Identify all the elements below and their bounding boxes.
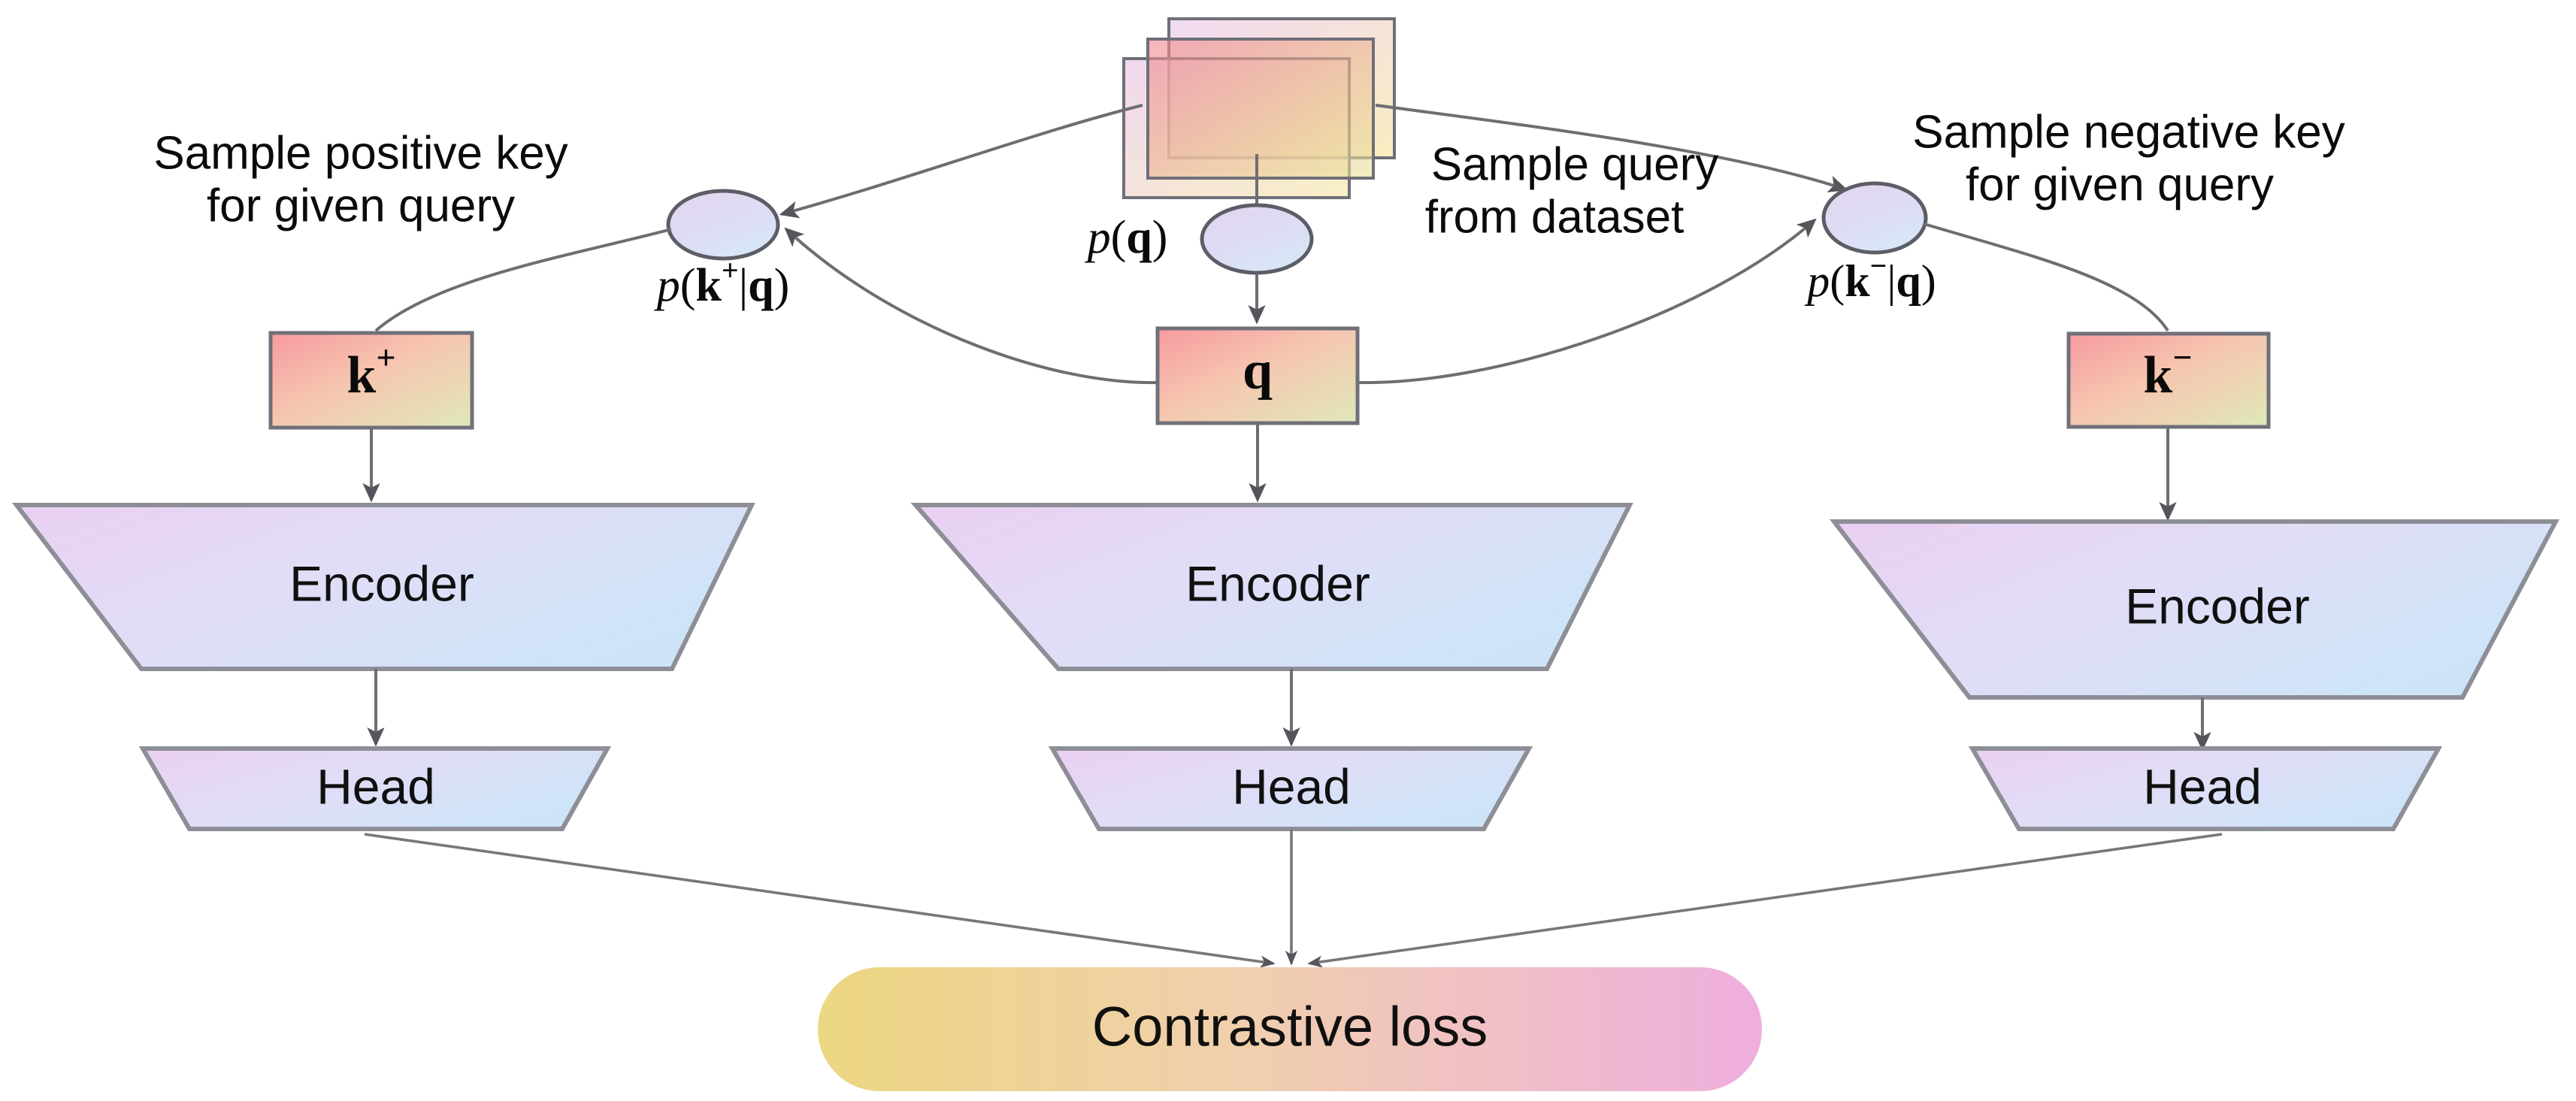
annotation-negative-line1: Sample negative key <box>1912 106 2345 158</box>
prob-label-negative: p(k−|q) <box>1804 249 1936 306</box>
annotation-query-line2: from dataset <box>1425 191 1685 243</box>
head-query-label: Head <box>1232 758 1351 814</box>
encoder-positive-label: Encoder <box>289 555 474 611</box>
positive-sampler-ellipse[interactable] <box>668 191 778 259</box>
prob-label-positive: p(k+|q) <box>654 253 790 312</box>
encoder-positive[interactable]: Encoder <box>17 505 752 669</box>
q-label: q <box>1243 340 1273 401</box>
prob-negative-text: p(k−|q) <box>1804 249 1936 306</box>
annotation-sample-negative-key: Sample negative key for given query <box>1912 106 2345 210</box>
query-sampler-ellipse[interactable] <box>1202 205 1312 273</box>
query-box[interactable]: q <box>1158 328 1358 423</box>
diagram-canvas: k+ q k− Encoder Encoder Encoder Head He <box>0 0 2576 1101</box>
edge-q-to-negative-sampler <box>1359 220 1815 383</box>
annotation-negative-line2: for given query <box>1966 159 2274 210</box>
edge-head-positive-to-loss <box>365 834 1273 963</box>
loss-label: Contrastive loss <box>1092 996 1488 1058</box>
prob-label-query: p(q) <box>1085 212 1168 263</box>
head-negative-label: Head <box>2143 758 2262 814</box>
negative-key-sampler-node[interactable] <box>1824 183 1926 253</box>
prob-query-text: p(q) <box>1085 212 1168 263</box>
edge-positive-sampler-to-kplus <box>376 229 671 331</box>
encoder-query[interactable]: Encoder <box>916 505 1630 669</box>
dataset-image-middle <box>1148 39 1373 178</box>
head-query[interactable]: Head <box>1052 749 1529 829</box>
encoder-negative-label: Encoder <box>2125 578 2310 634</box>
annotation-positive-line1: Sample positive key <box>153 127 568 179</box>
edge-head-negative-to-loss <box>1309 834 2222 963</box>
annotation-positive-line2: for given query <box>207 180 515 231</box>
negative-sampler-ellipse[interactable] <box>1824 183 1926 253</box>
edge-dataset-to-positive-sampler <box>782 105 1143 214</box>
prob-positive-text: p(k+|q) <box>654 253 790 312</box>
head-negative[interactable]: Head <box>1972 749 2438 829</box>
annotation-query-line1: Sample query <box>1431 138 1719 190</box>
query-sampler-node[interactable] <box>1202 205 1312 273</box>
encoder-negative[interactable]: Encoder <box>1834 522 2556 697</box>
head-positive-label: Head <box>316 758 435 814</box>
contrastive-learning-diagram: k+ q k− Encoder Encoder Encoder Head He <box>0 0 2576 1101</box>
contrastive-loss-pill[interactable]: Contrastive loss <box>818 967 1762 1091</box>
negative-key-box[interactable]: k− <box>2069 334 2269 427</box>
positive-key-box[interactable]: k+ <box>271 333 472 428</box>
dataset-image-stack[interactable] <box>1124 19 1394 198</box>
positive-key-sampler-node[interactable] <box>668 191 778 259</box>
annotation-sample-query: Sample query from dataset <box>1425 138 1719 243</box>
annotation-sample-positive-key: Sample positive key for given query <box>153 127 568 231</box>
head-positive[interactable]: Head <box>143 749 607 829</box>
edge-negative-sampler-to-kminus <box>1924 224 2168 331</box>
encoder-query-label: Encoder <box>1185 555 1370 611</box>
